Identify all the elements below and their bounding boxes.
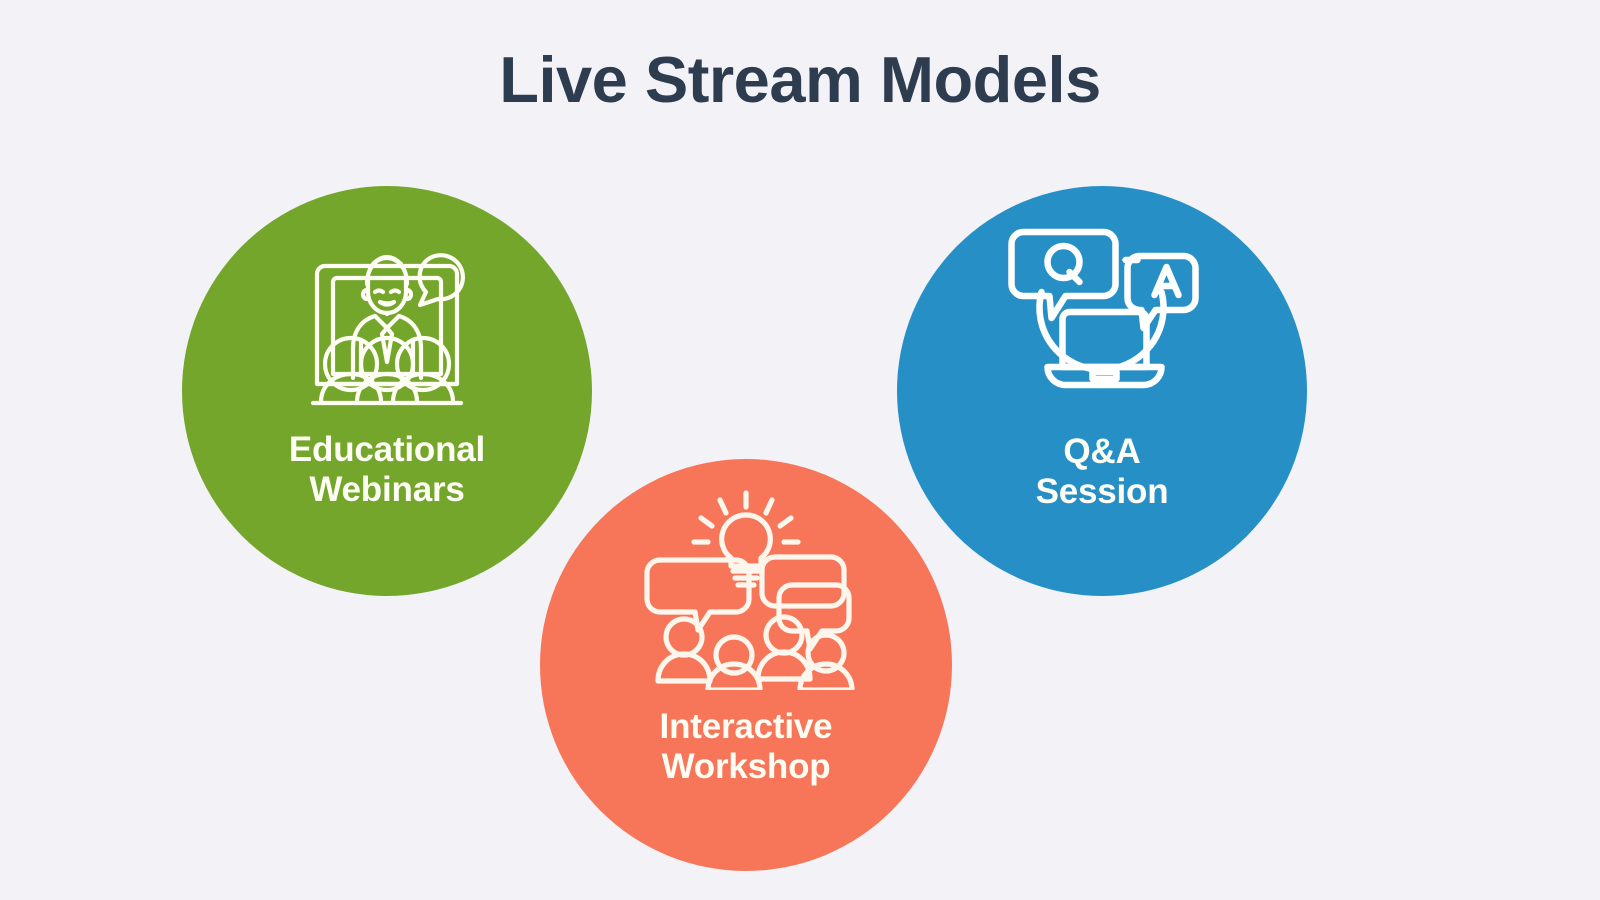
bubble-label-educational-webinars: Educational Webinars — [182, 430, 592, 510]
bubble-label-line2: Session — [897, 472, 1307, 512]
qa-laptop-speech-bubbles-icon — [1000, 220, 1205, 420]
bubble-label-line2: Workshop — [540, 747, 952, 787]
bubble-educational-webinars[interactable]: Educational Webinars — [182, 186, 592, 596]
bubble-label-line1: Q&A — [897, 432, 1307, 472]
page-title: Live Stream Models — [0, 44, 1600, 116]
bubble-label-qa-session: Q&A Session — [897, 432, 1307, 512]
bubble-label-line1: Interactive — [540, 707, 952, 747]
webinar-presenter-audience-icon — [287, 224, 487, 424]
bubble-interactive-workshop[interactable]: Interactive Workshop — [540, 459, 952, 871]
lightbulb-group-discussion-icon — [636, 485, 856, 690]
bubble-qa-session[interactable]: Q&A Session — [897, 186, 1307, 596]
bubble-label-line1: Educational — [182, 430, 592, 470]
infographic-canvas: Live Stream Models — [0, 0, 1600, 900]
bubble-label-interactive-workshop: Interactive Workshop — [540, 707, 952, 787]
bubble-label-line2: Webinars — [182, 470, 592, 510]
